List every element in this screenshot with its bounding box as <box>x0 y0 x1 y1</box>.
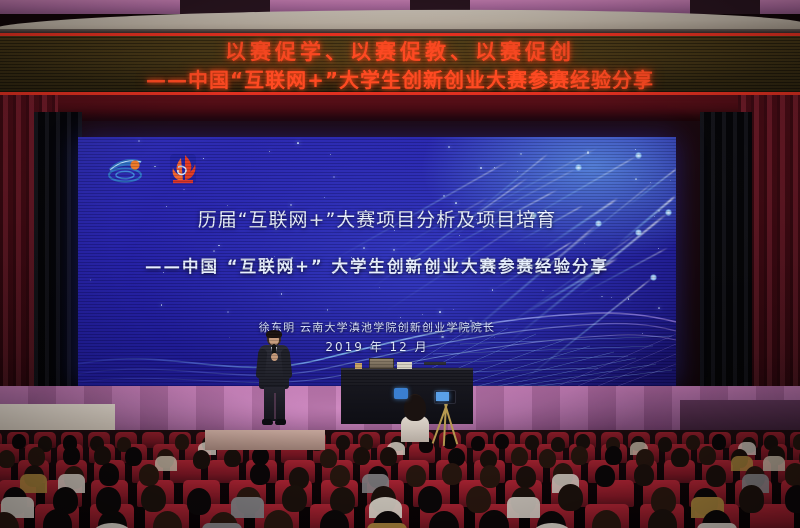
star-dot <box>363 247 365 249</box>
audience-coat <box>763 456 785 471</box>
camera-screen <box>436 392 449 401</box>
star-dot <box>218 245 220 247</box>
black-curtain-left <box>34 112 82 412</box>
table-cable <box>424 362 446 365</box>
audience-person <box>187 488 212 515</box>
audience-person <box>699 446 716 465</box>
audience-person <box>551 437 565 452</box>
operator-monitor-screen <box>394 388 408 399</box>
star-dot <box>635 178 637 180</box>
table-item <box>355 363 362 369</box>
audience-person <box>634 464 654 486</box>
slide-subtitle: ——中国 “互联网+” 大学生创新创业大赛参赛经验分享 <box>78 253 676 277</box>
audience-person <box>336 435 350 450</box>
audience-coat <box>202 523 242 528</box>
speaker-leg-gap <box>274 393 276 419</box>
audience-person <box>658 437 672 452</box>
star-dot <box>448 146 450 148</box>
star-dot <box>584 243 585 244</box>
audience-person <box>141 485 166 512</box>
seated-audience <box>0 430 800 528</box>
audience-person <box>139 464 159 486</box>
back-wall-panel <box>205 430 325 450</box>
slide-title: 历届“互联网+”大赛项目分析及项目培育 <box>78 205 676 232</box>
audience-coat <box>155 456 177 471</box>
star-dot <box>517 171 518 172</box>
audience-person <box>595 465 615 487</box>
audience-person <box>406 465 426 487</box>
audience-coat <box>231 497 264 519</box>
audience-person <box>539 449 556 468</box>
star-dot <box>90 279 92 281</box>
audience-person <box>525 435 539 450</box>
curtain-valance <box>0 95 800 121</box>
audience-person <box>785 463 800 485</box>
black-curtain-right <box>700 112 752 412</box>
audience-person <box>558 484 583 511</box>
audience-coat <box>20 474 47 492</box>
audience-person <box>193 450 210 469</box>
led-banner-line-2: ——中国“互联网+”大学生创新创业大赛参赛经验分享 <box>0 63 800 90</box>
star-dot <box>635 149 636 150</box>
audience-person <box>686 435 700 450</box>
laptop-on-table <box>369 358 394 369</box>
table-paper <box>397 362 412 369</box>
audience-person <box>671 448 688 467</box>
star-dot <box>297 142 299 144</box>
audience-person <box>28 447 45 466</box>
streak-head <box>575 164 582 171</box>
star-dot <box>670 180 672 182</box>
star-dot <box>213 250 215 252</box>
audience-person <box>12 434 26 449</box>
led-banner-line-1: 以赛促学、以赛促教、以赛促创 <box>0 36 800 63</box>
audience-person <box>250 463 270 485</box>
audience-person <box>224 449 241 468</box>
star-dot <box>324 197 325 198</box>
camera-operator <box>398 392 432 442</box>
audience-person <box>175 434 189 449</box>
star-dot <box>542 290 544 292</box>
star-dot <box>330 154 331 155</box>
audience-person <box>571 446 588 465</box>
audience-person <box>330 465 350 487</box>
camera-tripod <box>428 390 470 446</box>
audience-person <box>63 446 80 465</box>
audience-coat <box>507 497 540 519</box>
audience-person <box>785 485 800 512</box>
audience-person <box>442 463 462 485</box>
star-dot <box>480 167 481 168</box>
speaker-shoe-left <box>262 419 273 425</box>
audience-person <box>793 434 800 449</box>
audience-person <box>282 485 307 512</box>
operator-hair <box>404 395 426 421</box>
star-dot <box>203 158 204 159</box>
red-flame-logo <box>168 152 198 191</box>
audience-person <box>739 485 764 512</box>
led-banner: 以赛促学、以赛促教、以赛促创 ——中国“互联网+”大学生创新创业大赛参赛经验分享 <box>0 33 800 95</box>
speaker-hand <box>271 353 278 361</box>
audience-person <box>712 434 726 449</box>
projection-screen: 历届“互联网+”大赛项目分析及项目培育 ——中国 “互联网+” 大学生创新创业大… <box>78 137 676 386</box>
audience-person <box>0 450 15 469</box>
streak-head <box>635 152 642 159</box>
auditorium-photo: 以赛促学、以赛促教、以赛促创 ——中国“互联网+”大学生创新创业大赛参赛经验分享 <box>0 0 800 528</box>
audience-person <box>353 447 370 466</box>
audience-person <box>466 486 491 513</box>
slide-logo-group <box>102 152 198 191</box>
blue-swoosh-logo <box>102 155 148 188</box>
audience-person <box>706 465 726 487</box>
star-dot <box>520 153 522 155</box>
audience-person <box>511 447 528 466</box>
audience-person <box>516 466 536 488</box>
audience-person <box>94 446 111 465</box>
audience-person <box>471 436 485 451</box>
audience-coat <box>697 523 737 528</box>
audience-person <box>99 463 119 485</box>
star-dot <box>379 287 380 288</box>
audience-person <box>480 465 500 487</box>
speaker-hair <box>266 330 282 338</box>
speaker-on-stage <box>256 331 292 427</box>
audience-person <box>605 446 622 465</box>
slide-date: 2019 年 12 月 <box>78 338 676 355</box>
star-dot <box>269 151 271 153</box>
audience-person <box>320 449 337 468</box>
audience-person <box>418 486 443 513</box>
audience-person <box>380 447 397 466</box>
star-dot <box>455 202 456 203</box>
speaker-arm-right <box>280 349 292 380</box>
star-dot <box>138 140 140 142</box>
slide-presenter: 徐东明 云南大学滇池学院创新创业学院院长 <box>78 319 676 335</box>
speaker-shoe-right <box>275 419 286 425</box>
star-dot <box>333 176 335 178</box>
star-dot <box>658 248 659 249</box>
audience-coat <box>367 523 407 528</box>
star-dot <box>459 235 460 236</box>
audience-person <box>495 434 509 449</box>
audience-person <box>125 447 142 466</box>
